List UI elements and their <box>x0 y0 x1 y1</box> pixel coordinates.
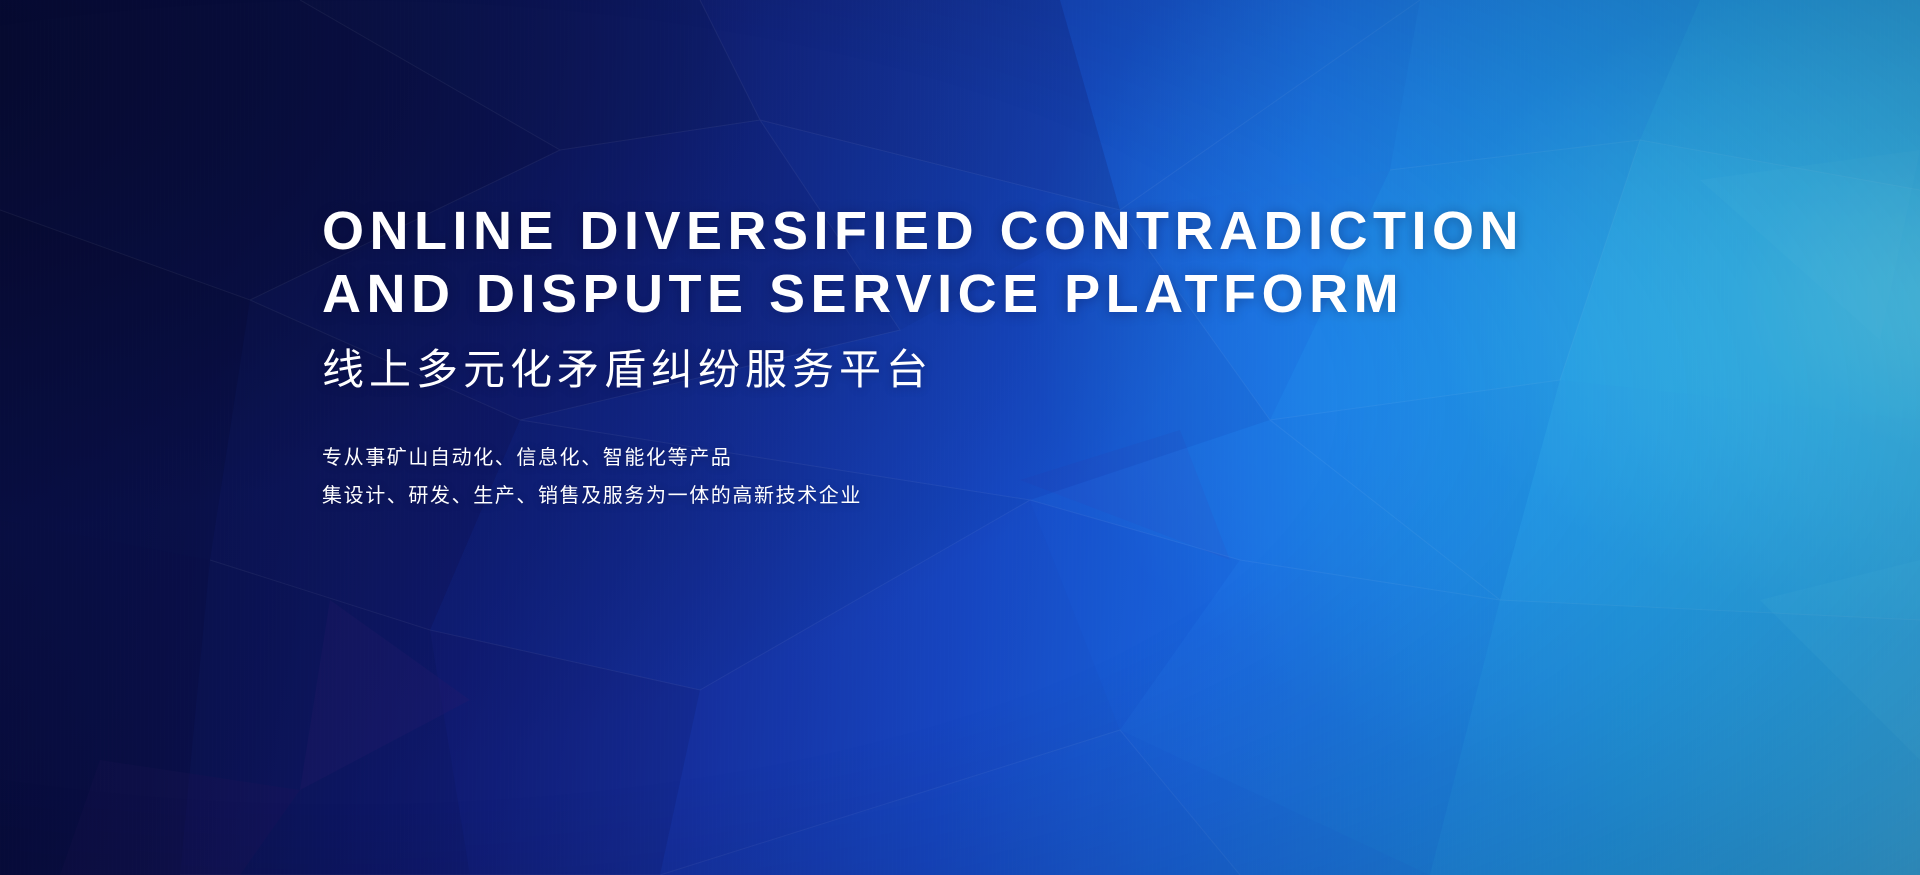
title-line-1: ONLINE DIVERSIFIED CONTRADICTION <box>322 200 1722 263</box>
description-line-1: 专从事矿山自动化、信息化、智能化等产品 <box>322 439 1722 477</box>
description-block: 专从事矿山自动化、信息化、智能化等产品 集设计、研发、生产、销售及服务为一体的高… <box>322 439 1722 515</box>
description-line-2: 集设计、研发、生产、销售及服务为一体的高新技术企业 <box>322 477 1722 515</box>
banner-content: ONLINE DIVERSIFIED CONTRADICTION AND DIS… <box>322 200 1722 515</box>
headline-chinese: 线上多元化矛盾纠纷服务平台 <box>322 344 1722 396</box>
page-title: ONLINE DIVERSIFIED CONTRADICTION AND DIS… <box>322 200 1722 326</box>
title-line-2: AND DISPUTE SERVICE PLATFORM <box>322 263 1722 326</box>
hero-banner: ONLINE DIVERSIFIED CONTRADICTION AND DIS… <box>0 0 1920 875</box>
